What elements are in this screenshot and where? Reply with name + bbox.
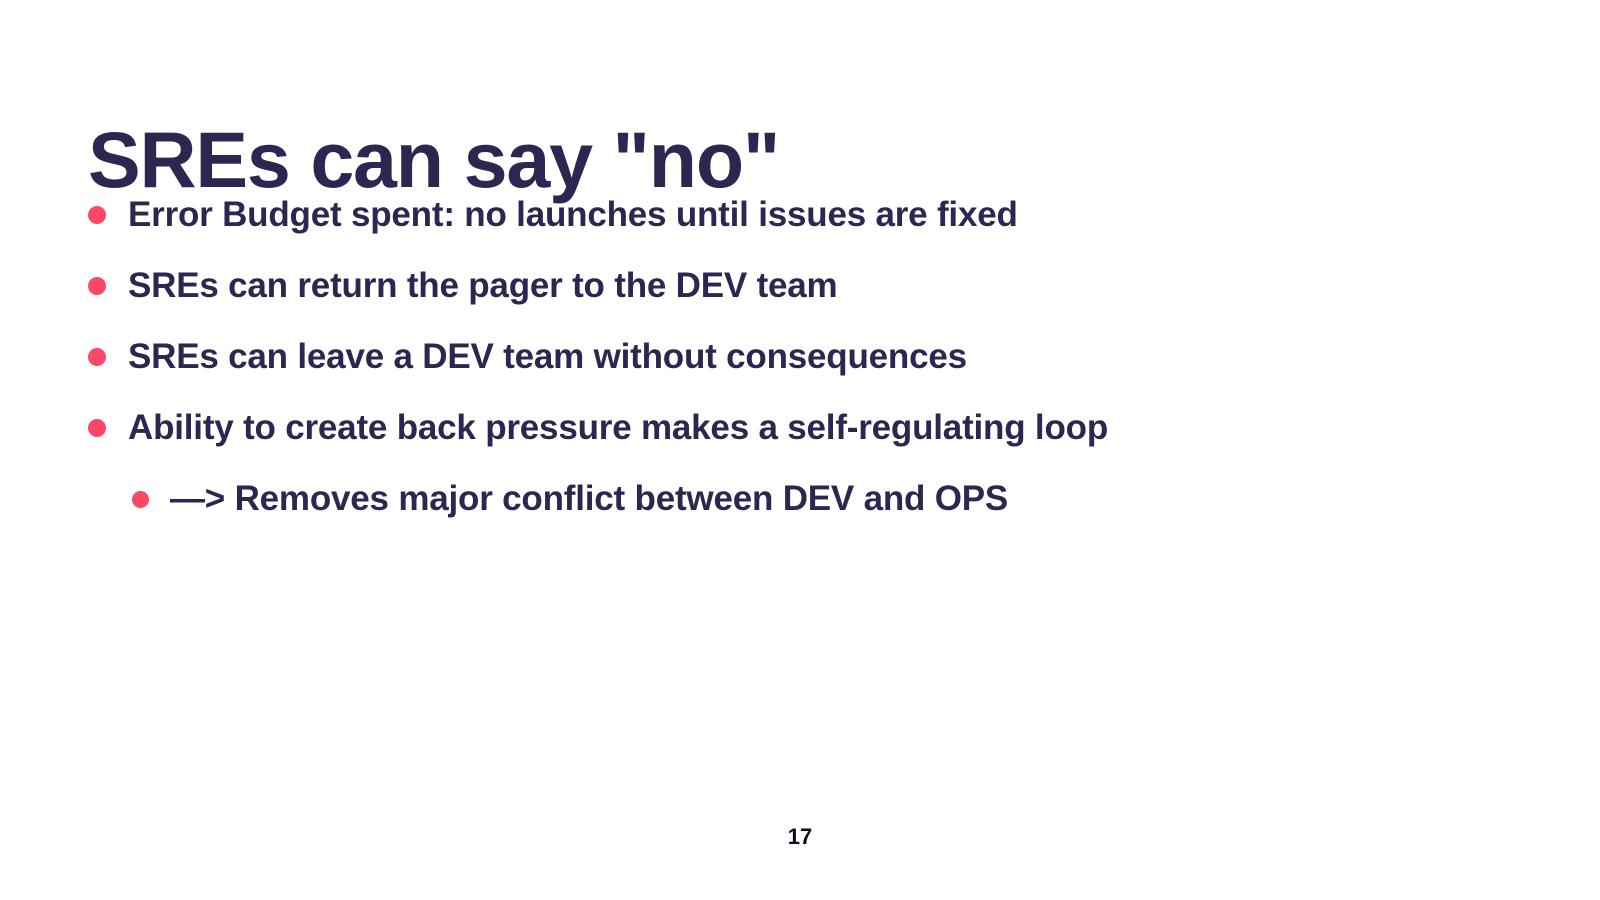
list-item-label: Ability to create back pressure makes a … — [128, 405, 1108, 451]
slide-canvas: SREs can say "no" Error Budget spent: no… — [0, 0, 1600, 900]
bullet-dot-icon — [132, 491, 149, 508]
page-title: SREs can say "no" — [88, 119, 779, 202]
bullet-dot-icon — [88, 348, 106, 366]
bullet-dot-icon — [88, 206, 106, 224]
list-item: SREs can leave a DEV team without conseq… — [88, 334, 1508, 405]
sub-list-item: —> Removes major conflict between DEV an… — [88, 476, 1508, 547]
bullet-list: Error Budget spent: no launches until is… — [88, 192, 1508, 547]
list-item: SREs can return the pager to the DEV tea… — [88, 263, 1508, 334]
sub-list-item-label: —> Removes major conflict between DEV an… — [170, 476, 1008, 522]
list-item-label: Error Budget spent: no launches until is… — [128, 192, 1018, 238]
list-item-label: SREs can return the pager to the DEV tea… — [128, 263, 837, 309]
bullet-dot-icon — [88, 277, 106, 295]
list-item: Error Budget spent: no launches until is… — [88, 192, 1508, 263]
page-number: 17 — [0, 824, 1600, 850]
list-item: Ability to create back pressure makes a … — [88, 405, 1508, 476]
list-item-label: SREs can leave a DEV team without conseq… — [128, 334, 967, 380]
bullet-dot-icon — [88, 419, 106, 437]
